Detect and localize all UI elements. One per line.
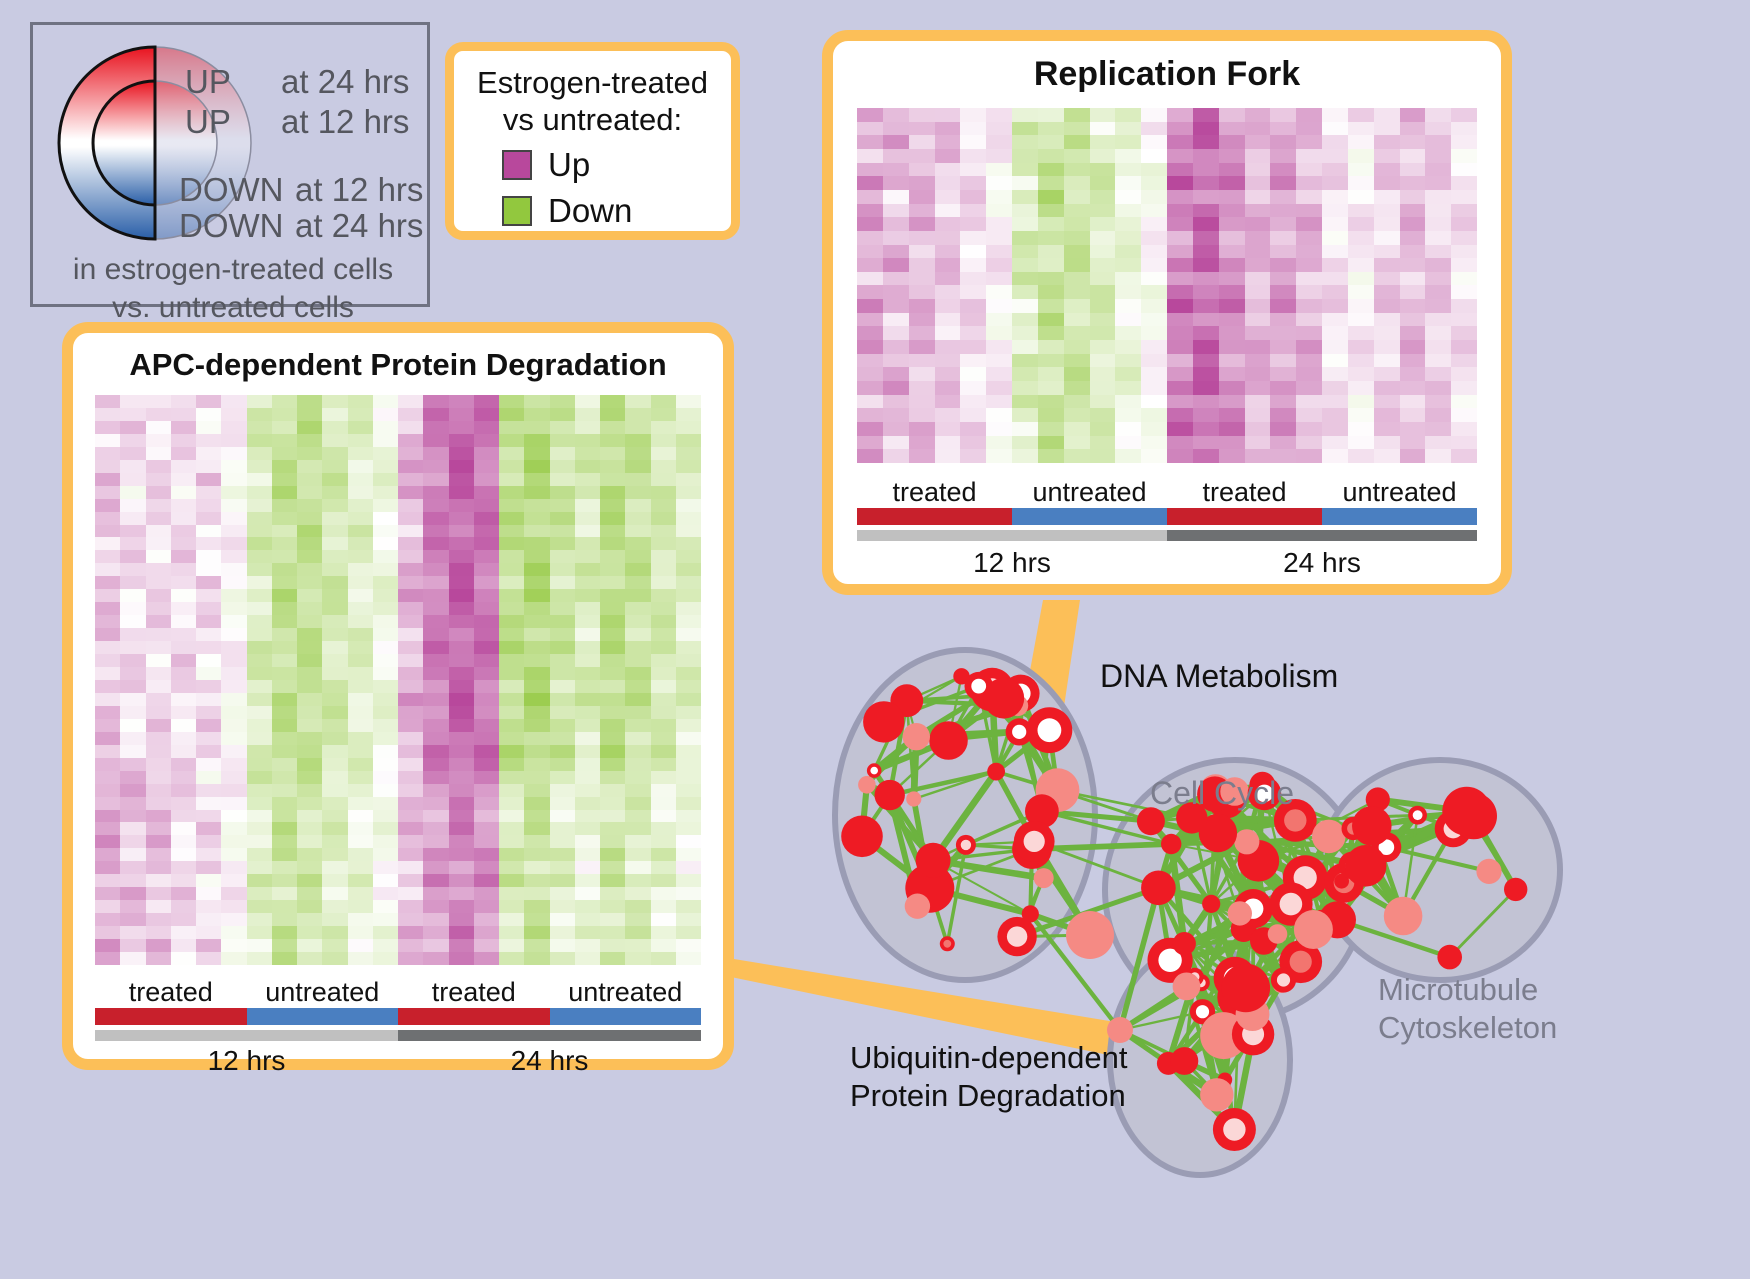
replication-fork-heatmap (857, 108, 1477, 463)
apc-group-labels: treated untreated treated untreated (95, 977, 701, 1008)
up-label: Up (548, 146, 590, 184)
apc-heatmap (95, 395, 701, 965)
legend-footer-line2: vs. untreated cells (33, 291, 433, 325)
legend-up-24-label: UP (185, 63, 231, 101)
replication-fork-time-bar (857, 530, 1477, 541)
label-microtubule: Microtubule (1378, 972, 1538, 1008)
label-dna-metabolism: DNA Metabolism (1100, 658, 1338, 695)
replication-fork-group-bar (857, 508, 1477, 525)
rf-time-label-0: 12 hrs (857, 547, 1167, 579)
legend-down-24-time: at 24 hrs (295, 207, 423, 245)
apc-time-label-0: 12 hrs (95, 1045, 398, 1077)
down-color-swatch (502, 196, 532, 226)
network-svg (790, 600, 1750, 1279)
legend-down-12-label: DOWN (179, 171, 283, 209)
apc-title: APC-dependent Protein Degradation (73, 347, 723, 383)
rf-group-label-0: treated (857, 477, 1012, 508)
apc-group-label-1: untreated (247, 977, 399, 1008)
apc-time-bar (95, 1030, 701, 1041)
apc-time-labels: 12 hrs 24 hrs (95, 1045, 701, 1077)
panel-replication-fork: Replication Fork treated untreated treat… (822, 30, 1512, 595)
replication-fork-time-labels: 12 hrs 24 hrs (857, 547, 1477, 579)
legend-item-up: Up (502, 146, 731, 184)
apc-time-label-1: 24 hrs (398, 1045, 701, 1077)
legend-down-12-time: at 12 hrs (295, 171, 423, 209)
rf-group-label-3: untreated (1322, 477, 1477, 508)
rf-group-label-1: untreated (1012, 477, 1167, 508)
up-color-swatch (502, 150, 532, 180)
apc-group-bar (95, 1008, 701, 1025)
updown-legend-title: Estrogen-treated vs untreated: (454, 65, 731, 138)
legend-up-24-time: at 24 hrs (281, 63, 409, 101)
rf-group-label-2: treated (1167, 477, 1322, 508)
label-cell-cycle: Cell Cycle (1150, 775, 1294, 812)
apc-group-label-0: treated (95, 977, 247, 1008)
legend-down-24-label: DOWN (179, 207, 283, 245)
label-cytoskeleton: Cytoskeleton (1378, 1010, 1557, 1046)
legend-up-12-label: UP (185, 103, 231, 141)
updown-title-line2: vs untreated: (454, 102, 731, 139)
legend-up-12-time: at 12 hrs (281, 103, 409, 141)
network-graph: DNA Metabolism Cell Cycle Microtubule Cy… (790, 600, 1750, 1279)
label-ubiquitin-line2: Protein Degradation (850, 1078, 1126, 1114)
apc-group-label-3: untreated (550, 977, 702, 1008)
updown-legend-box: Estrogen-treated vs untreated: Up Down (445, 42, 740, 240)
legend-footer-line1: in estrogen-treated cells (33, 253, 433, 287)
circle-legend-box: UP at 24 hrs UP at 12 hrs DOWN at 12 hrs… (30, 22, 430, 307)
replication-fork-group-labels: treated untreated treated untreated (857, 477, 1477, 508)
legend-item-down: Down (502, 192, 731, 230)
replication-fork-title: Replication Fork (833, 55, 1501, 94)
figure-canvas: UP at 24 hrs UP at 12 hrs DOWN at 12 hrs… (0, 0, 1750, 1279)
panel-apc-degradation: APC-dependent Protein Degradation treate… (62, 322, 734, 1070)
updown-title-line1: Estrogen-treated (454, 65, 731, 102)
apc-group-label-2: treated (398, 977, 550, 1008)
rf-time-label-1: 24 hrs (1167, 547, 1477, 579)
label-ubiquitin-line1: Ubiquitin-dependent (850, 1040, 1128, 1076)
down-label: Down (548, 192, 632, 230)
